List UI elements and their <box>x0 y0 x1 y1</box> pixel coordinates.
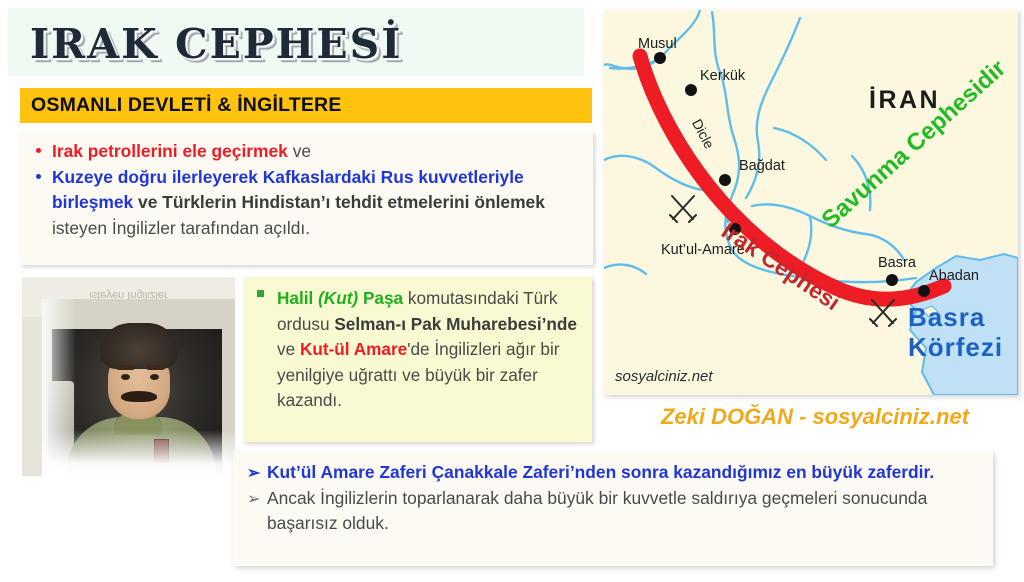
title-band: IRAK CEPHESİ <box>8 8 584 76</box>
map-city-label: Kerkük <box>700 68 745 84</box>
map-gulf-label: Basra Körfezi <box>908 302 1003 362</box>
eyebrow-right <box>146 365 165 370</box>
intro-tail-text: ve <box>288 141 311 161</box>
conclusion-text-2: Ancak İngilizlerin toparlanarak daha büy… <box>267 488 927 534</box>
intro-dark-text: ve Türklerin Hindistan’ı tehdit etmeleri… <box>133 192 545 212</box>
subtitle-label: OSMANLI DEVLETİ & İNGİLTERE <box>31 94 342 117</box>
gulf-line-2: Körfezi <box>908 332 1003 362</box>
map-city-label: Basra <box>878 255 916 271</box>
photo-image <box>42 299 235 476</box>
photo-bottom-fade <box>42 430 235 476</box>
map-city-label: Bağdat <box>739 158 785 174</box>
intro-box: Irak petrollerini ele geçirmek ve Kuzeye… <box>20 131 593 265</box>
author-credit: Zeki DOĞAN - sosyalciniz.net <box>630 404 1000 430</box>
eye-left <box>121 374 130 380</box>
map-watermark: sosyalciniz.net <box>615 368 713 385</box>
eye-right <box>150 374 159 380</box>
square-bullet-icon <box>257 290 264 297</box>
conclusion-box: ➢ Kut’ül Amare Zaferi Çanakkale Zaferi’n… <box>233 452 993 566</box>
list-item: Kuzeye doğru ilerleyerek Kafkaslardaki R… <box>20 165 593 242</box>
kalpak-hat <box>100 323 178 369</box>
intro-plain-text: isteyen İngilizler tarafından açıldı. <box>52 218 310 238</box>
page-title: IRAK CEPHESİ <box>30 20 402 68</box>
arrow-bullet-icon: ➢ <box>247 487 260 513</box>
slide-canvas: IRAK CEPHESİ OSMANLI DEVLETİ & İNGİLTERE… <box>0 0 1024 582</box>
selman-pak: Selman-ı Pak Muharebesi’nde <box>334 314 577 334</box>
eyebrow-left <box>116 365 135 370</box>
list-item: ➢ Kut’ül Amare Zaferi Çanakkale Zaferi’n… <box>233 460 993 486</box>
halil-kut: (Kut) <box>318 288 358 308</box>
map-city-label: Musul <box>638 36 677 52</box>
map-city-label: Abadan <box>929 268 979 284</box>
iraq-front-map: Musul Kerkük Bağdat Kut’ul-Amare Basra A… <box>604 10 1018 395</box>
bullet-dot-icon <box>36 174 41 179</box>
crossed-swords-icon <box>668 194 698 224</box>
halil-pasa: Paşa <box>358 288 403 308</box>
halil-paragraph: Halil (Kut) Paşa komutasındaki Türk ordu… <box>277 286 582 414</box>
halil-plain-2: ve <box>277 339 300 359</box>
conclusion-text-1: Kut’ül Amare Zaferi Çanakkale Zaferi’nde… <box>267 462 934 482</box>
list-item: Irak petrollerini ele geçirmek ve <box>20 139 593 165</box>
moustache <box>121 391 157 402</box>
gulf-line-1: Basra <box>908 302 1003 332</box>
subtitle-bar: OSMANLI DEVLETİ & İNGİLTERE <box>20 88 592 123</box>
intro-red-text: Irak petrollerini ele geçirmek <box>52 141 288 161</box>
crossed-swords-icon <box>868 298 898 328</box>
list-item: ➢ Ancak İngilizlerin toparlanarak daha b… <box>233 486 993 537</box>
halil-name: Halil <box>277 288 318 308</box>
bullet-dot-icon <box>36 148 41 153</box>
commander-photo: tarafından açıldı. isteyen İngilizler <box>22 277 235 476</box>
halil-pasa-box: Halil (Kut) Paşa komutasındaki Türk ordu… <box>243 277 592 442</box>
arrow-bullet-icon: ➢ <box>247 461 260 487</box>
kut-ul-amare: Kut-ül Amare <box>300 339 407 359</box>
